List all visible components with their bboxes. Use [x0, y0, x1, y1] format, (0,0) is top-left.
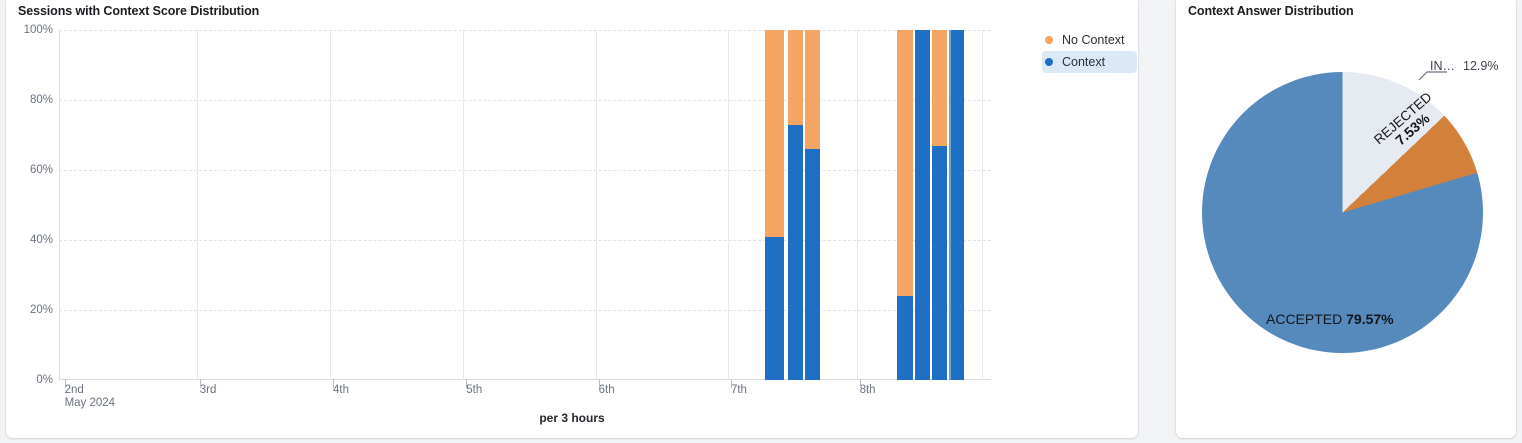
bar-stack[interactable] — [932, 30, 947, 380]
bar-stack[interactable] — [949, 30, 964, 380]
pie-slice-value: 79.57% — [1346, 311, 1393, 327]
bar-segment-context[interactable] — [897, 296, 913, 380]
vgrid-5th — [463, 30, 464, 380]
y-axis: 100% 80% 60% 40% 20% 0% — [6, 30, 53, 380]
x-tick-3rd: 3rd — [200, 384, 217, 397]
bar-segment-no-context[interactable] — [932, 30, 947, 146]
gridline-100 — [59, 30, 991, 31]
legend: No Context Context — [1042, 29, 1137, 73]
bar-segment-context[interactable] — [765, 237, 785, 381]
x-tick-5th: 5th — [466, 384, 482, 397]
bar-stack[interactable] — [765, 30, 785, 380]
x-tick-7th: 7th — [731, 384, 747, 397]
x-tick-6th: 6th — [599, 384, 615, 397]
pie-slice-name: ACCEPTED — [1266, 311, 1342, 327]
bar-plot-area — [59, 30, 991, 380]
bar-segment-context[interactable] — [932, 146, 947, 381]
y-tick-20: 20% — [7, 304, 53, 316]
legend-dot-icon — [1045, 36, 1053, 44]
bar-stack[interactable] — [788, 30, 803, 380]
bar-stack[interactable] — [897, 30, 913, 380]
y-tick-80: 80% — [7, 94, 53, 106]
bar-segment-context[interactable] — [788, 125, 803, 381]
bar-segment-context[interactable] — [805, 149, 820, 380]
pie-slice-label-inconclusive: IN…12.9% — [1430, 59, 1498, 73]
bar-segment-no-context[interactable] — [765, 30, 785, 237]
context-answer-distribution-panel: Context Answer Distribution IN…12.9% REJ… — [1176, 0, 1516, 438]
bar-segment-no-context[interactable] — [897, 30, 913, 296]
pie-chart-area: IN…12.9% REJECTED 7.53% ACCEPTED 79.57% — [1186, 36, 1506, 426]
gridline-80 — [59, 100, 991, 101]
gridline-20 — [59, 310, 991, 311]
vgrid-6th — [596, 30, 597, 380]
page-title: Sessions with Context Score Distribution — [18, 4, 259, 18]
x-tick-8th: 8th — [860, 384, 876, 397]
legend-dot-icon — [1045, 58, 1053, 66]
bar-segment-context[interactable] — [915, 30, 931, 380]
y-axis-line — [59, 30, 60, 380]
gridline-40 — [59, 240, 991, 241]
dashboard: Sessions with Context Score Distribution… — [0, 0, 1522, 443]
y-tick-60: 60% — [7, 164, 53, 176]
pie-slice-name: IN… — [1430, 59, 1455, 73]
x-axis-caption: per 3 hours — [6, 411, 1138, 425]
y-tick-0: 0% — [7, 374, 53, 386]
x-tick-2nd: 2nd May 2024 — [65, 384, 116, 410]
panel-title: Context Answer Distribution — [1188, 4, 1354, 18]
pie-slice-label-accepted: ACCEPTED 79.57% — [1266, 311, 1394, 327]
x-tick-4th: 4th — [333, 384, 349, 397]
legend-label: Context — [1062, 55, 1105, 69]
vgrid-end — [982, 30, 983, 380]
vgrid-4th — [330, 30, 331, 380]
y-tick-100: 100% — [7, 24, 53, 36]
vgrid-8th — [857, 30, 858, 380]
bar-stack[interactable] — [805, 30, 820, 380]
vgrid-7th — [728, 30, 729, 380]
gridline-60 — [59, 170, 991, 171]
bar-segment-no-context[interactable] — [805, 30, 820, 149]
legend-item-context[interactable]: Context — [1042, 51, 1137, 73]
bar-stack[interactable] — [915, 30, 931, 380]
vgrid-3rd — [197, 30, 198, 380]
legend-item-no-context[interactable]: No Context — [1042, 29, 1137, 51]
bar-segment-no-context[interactable] — [788, 30, 803, 125]
sessions-context-score-panel: Sessions with Context Score Distribution… — [6, 0, 1138, 438]
legend-label: No Context — [1062, 33, 1125, 47]
bar-segment-context[interactable] — [949, 30, 964, 380]
pie-slice-value: 12.9% — [1463, 59, 1498, 73]
y-tick-40: 40% — [7, 234, 53, 246]
